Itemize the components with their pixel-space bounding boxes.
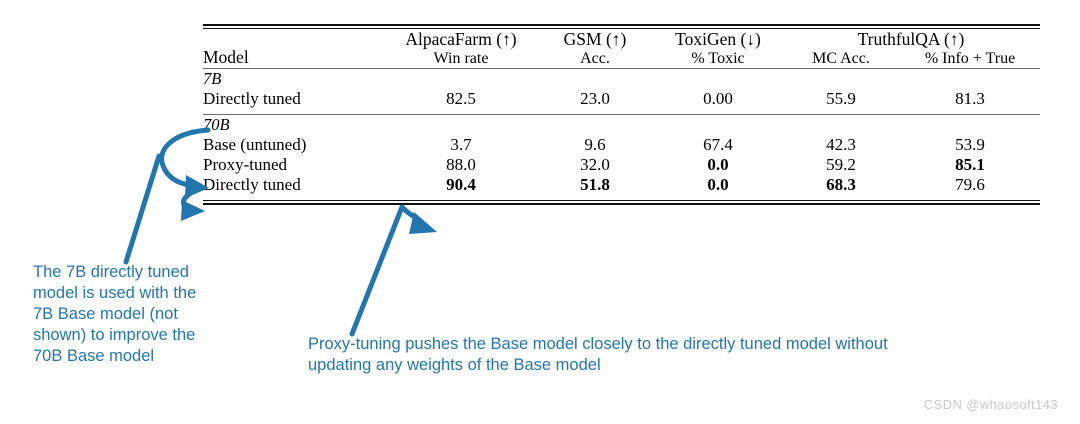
cell-70b-directly-tuned-mc-acc: 68.3 bbox=[782, 175, 900, 195]
table-header-main-row: Model AlpacaFarm (↑) GSM (↑) ToxiGen (↓)… bbox=[203, 29, 1040, 50]
column-header-model: Model bbox=[203, 29, 386, 68]
bottom-rule-thick bbox=[203, 203, 1040, 205]
column-subheader-info-true: % Info + True bbox=[900, 50, 1040, 68]
cell-70b-proxy-mc-acc: 59.2 bbox=[782, 155, 900, 175]
column-header-truthfulqa: TruthfulQA (↑) bbox=[782, 29, 1040, 50]
arrowhead-to-directly-tuned-alpacafarm bbox=[409, 212, 437, 234]
group-label-70b: 70B bbox=[203, 115, 1040, 135]
arrow-left-curve-upper bbox=[162, 130, 208, 170]
cell-70b-proxy-info-true: 85.1 bbox=[900, 155, 1040, 175]
row-label-70b-proxy-tuned: Proxy-tuned bbox=[203, 155, 386, 175]
cell-70b-base-toxigen: 67.4 bbox=[654, 135, 782, 155]
cell-70b-proxy-toxigen: 0.0 bbox=[654, 155, 782, 175]
arrow-center-hook bbox=[402, 207, 420, 221]
cell-70b-directly-tuned-alpacafarm: 90.4 bbox=[386, 175, 536, 195]
cell-70b-directly-tuned-toxigen: 0.0 bbox=[654, 175, 782, 195]
results-table: Model AlpacaFarm (↑) GSM (↑) ToxiGen (↓)… bbox=[203, 24, 1040, 205]
column-header-gsm: GSM (↑) bbox=[536, 29, 654, 50]
cell-70b-base-gsm: 9.6 bbox=[536, 135, 654, 155]
table-row: Base (untuned) 3.7 9.6 67.4 42.3 53.9 bbox=[203, 135, 1040, 155]
table-row: Directly tuned 90.4 51.8 0.0 68.3 79.6 bbox=[203, 175, 1040, 195]
cell-7b-directly-tuned-mc-acc: 55.9 bbox=[782, 89, 900, 109]
cell-70b-base-mc-acc: 42.3 bbox=[782, 135, 900, 155]
arrow-center-stem bbox=[352, 207, 402, 334]
column-header-alpacafarm: AlpacaFarm (↑) bbox=[386, 29, 536, 50]
column-header-toxigen: ToxiGen (↓) bbox=[654, 29, 782, 50]
watermark-label: CSDN @whaosoft143 bbox=[924, 397, 1058, 412]
cell-70b-proxy-gsm: 32.0 bbox=[536, 155, 654, 175]
arrow-left-stem bbox=[126, 156, 159, 262]
cell-7b-directly-tuned-gsm: 23.0 bbox=[536, 89, 654, 109]
bottom-rule-thin bbox=[203, 200, 1040, 201]
annotation-left-text: The 7B directly tuned model is used with… bbox=[33, 262, 208, 367]
row-label-70b-base-untuned: Base (untuned) bbox=[203, 135, 386, 155]
annotation-bottom-text: Proxy-tuning pushes the Base model close… bbox=[308, 334, 928, 376]
cell-70b-directly-tuned-info-true: 79.6 bbox=[900, 175, 1040, 195]
group-label-7b: 7B bbox=[203, 69, 1040, 89]
arrow-left-curve-to-base bbox=[165, 170, 192, 186]
table-row: Proxy-tuned 88.0 32.0 0.0 59.2 85.1 bbox=[203, 155, 1040, 175]
row-label-70b-directly-tuned: Directly tuned bbox=[203, 175, 386, 195]
cell-7b-directly-tuned-toxigen: 0.00 bbox=[654, 89, 782, 109]
arrow-left-curve-to-proxy bbox=[183, 190, 196, 208]
table-bottom-rule bbox=[203, 200, 1040, 205]
cell-7b-directly-tuned-info-true: 81.3 bbox=[900, 89, 1040, 109]
results-table-container: Model AlpacaFarm (↑) GSM (↑) ToxiGen (↓)… bbox=[203, 24, 1040, 205]
group-header-row-70b: 70B bbox=[203, 115, 1040, 135]
cell-70b-directly-tuned-gsm: 51.8 bbox=[536, 175, 654, 195]
column-subheader-mc-acc: MC Acc. bbox=[782, 50, 900, 68]
top-rule-thick bbox=[203, 24, 1040, 26]
cell-70b-base-info-true: 53.9 bbox=[900, 135, 1040, 155]
cell-70b-base-alpacafarm: 3.7 bbox=[386, 135, 536, 155]
cell-70b-proxy-alpacafarm: 88.0 bbox=[386, 155, 536, 175]
column-subheader-alpacafarm: Win rate bbox=[386, 50, 536, 68]
row-label-7b-directly-tuned: Directly tuned bbox=[203, 89, 386, 109]
column-subheader-toxigen: % Toxic bbox=[654, 50, 782, 68]
group-header-row-7b: 7B bbox=[203, 69, 1040, 89]
cell-7b-directly-tuned-alpacafarm: 82.5 bbox=[386, 89, 536, 109]
column-subheader-gsm: Acc. bbox=[536, 50, 654, 68]
table-row: Directly tuned 82.5 23.0 0.00 55.9 81.3 bbox=[203, 89, 1040, 109]
arrowhead-to-proxy-tuned bbox=[181, 200, 205, 221]
